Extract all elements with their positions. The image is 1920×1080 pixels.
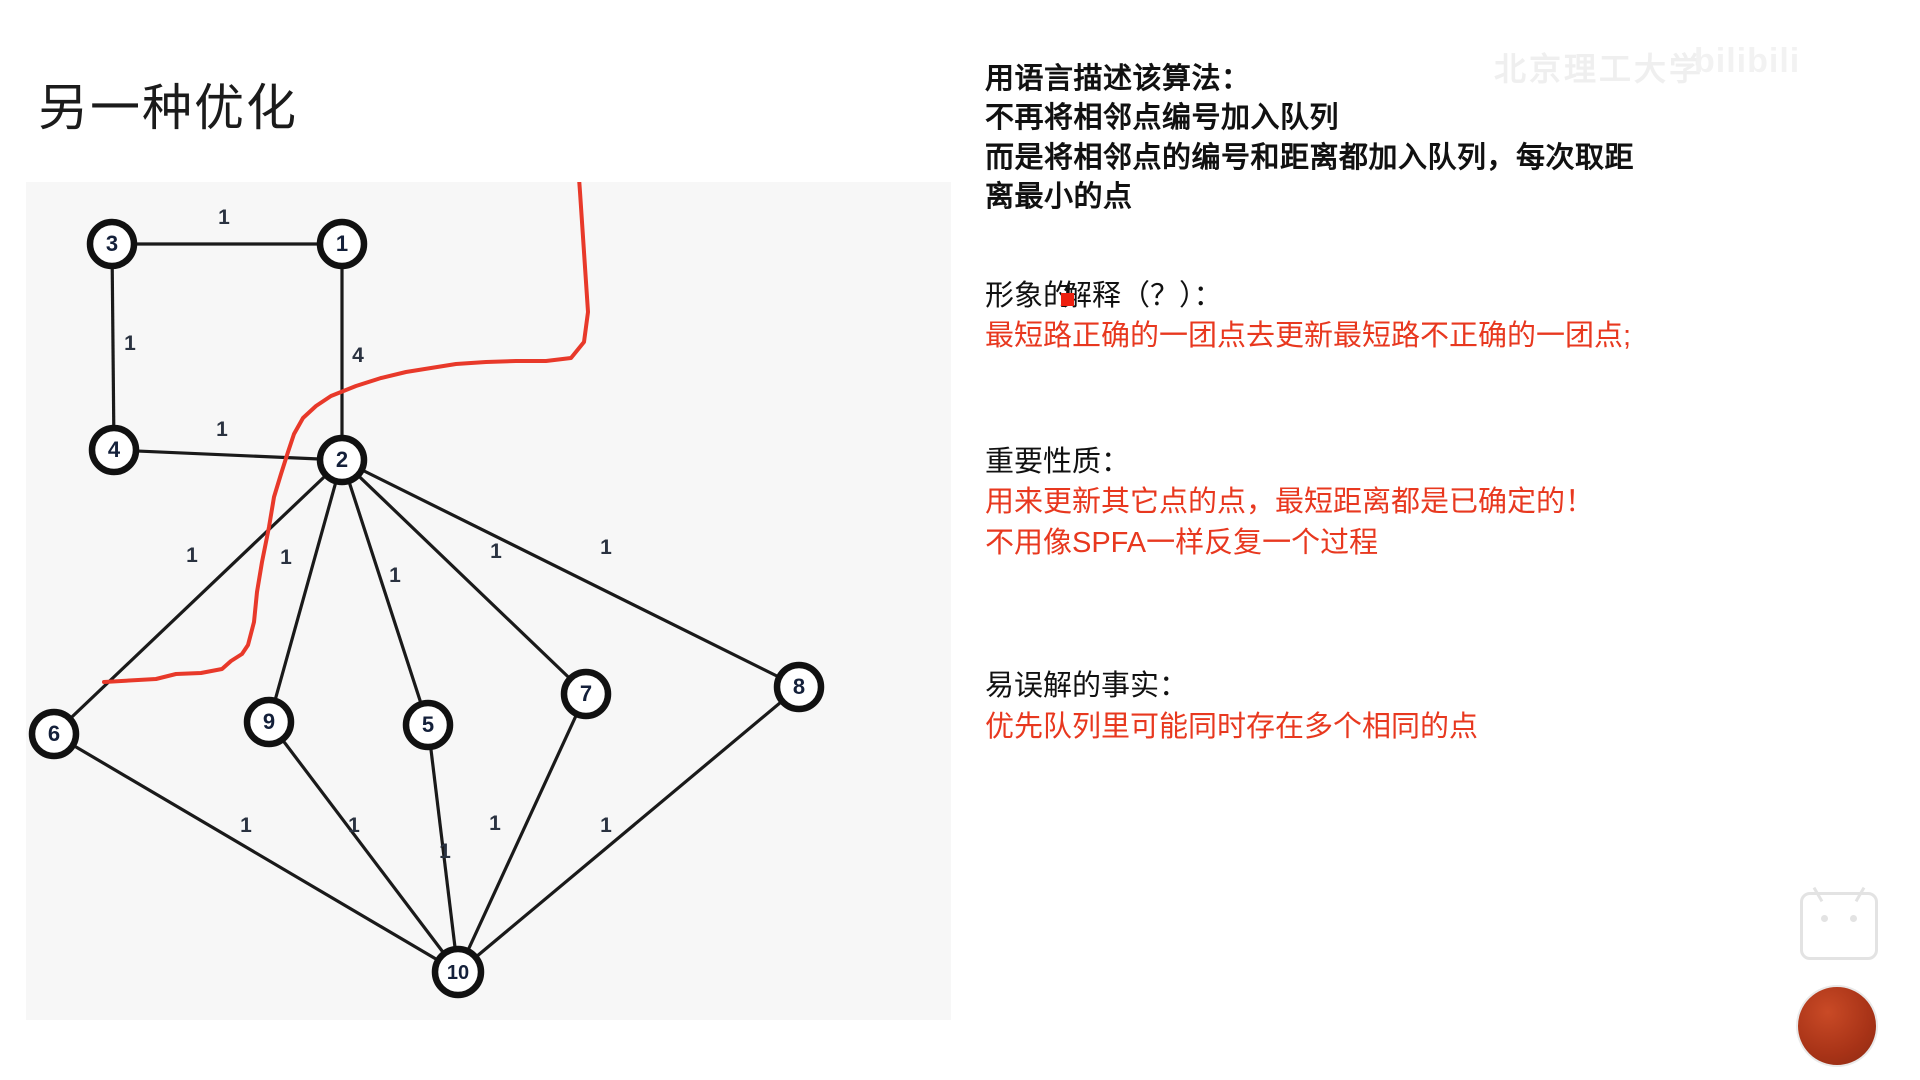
algo-line-3: 而是将相邻点的编号和距离都加入队列，每次取距: [985, 139, 1890, 178]
intuitive-heading-pre: 形象的: [985, 280, 1072, 312]
graph-edge: [269, 722, 458, 972]
intuitive-heading-post: 解释（？）：: [1063, 280, 1223, 312]
algo-line-2: 不再将相邻点编号加入队列: [985, 99, 1890, 138]
graph-edge: [269, 460, 342, 722]
spacer: [985, 622, 1890, 666]
block-intuitive-explanation: 形象的解释（？）： 最短路正确的一团点去更新最短路不正确的一团点;: [985, 276, 1890, 358]
edge-weight-label: 1: [490, 540, 502, 563]
edge-weight-label: 1: [240, 814, 252, 837]
spacer: [985, 416, 1890, 442]
graph-edge: [114, 450, 342, 460]
graph-node-label: 7: [580, 681, 592, 706]
graph-edge: [342, 460, 799, 687]
graph-node-label: 10: [447, 962, 469, 984]
intuitive-red-line-1: 最短路正确的一团点去更新最短路不正确的一团点;: [985, 316, 1890, 357]
graph-node-label: 1: [336, 231, 348, 256]
graph-node-label: 2: [336, 447, 348, 472]
tv-eye-left-icon: [1821, 915, 1828, 922]
edge-weight-label: 1: [186, 544, 198, 567]
channel-avatar[interactable]: [1796, 985, 1878, 1067]
block-common-misconception: 易误解的事实： 优先队列里可能同时存在多个相同的点: [985, 666, 1890, 748]
edge-weight-label: 1: [280, 546, 292, 569]
misconception-heading: 易误解的事实：: [985, 666, 1890, 707]
edge-weight-label: 1: [600, 536, 612, 559]
edge-weight-label: 1: [439, 840, 451, 863]
university-watermark: 北京理工大学: [1494, 44, 1704, 90]
slide-canvas: 另一种优化 11411111111111 31426957810 用语言描述该算…: [0, 0, 1920, 1080]
edge-weight-label: 1: [348, 814, 360, 837]
bilibili-tv-icon[interactable]: [1800, 892, 1878, 960]
edge-weight-label: 1: [489, 812, 501, 835]
graph-edge: [458, 694, 586, 972]
graph-node-label: 4: [108, 437, 121, 462]
bilibili-watermark: bilibili: [1694, 42, 1800, 81]
property-heading: 重要性质：: [985, 442, 1890, 483]
spacer: [985, 218, 1890, 276]
graph-node-label: 5: [422, 712, 434, 737]
graph-edge: [54, 734, 458, 972]
block-algorithm-description: 用语言描述该算法： 不再将相邻点编号加入队列 而是将相邻点的编号和距离都加入队列…: [985, 60, 1890, 218]
property-red-line-1: 用来更新其它点的点，最短距离都是已确定的！: [985, 482, 1890, 523]
edge-weight-label: 1: [600, 814, 612, 837]
red-cursor-dot: [1061, 293, 1074, 306]
tv-eye-right-icon: [1850, 915, 1857, 922]
block-important-property: 重要性质： 用来更新其它点的点，最短距离都是已确定的！ 不用像SPFA一样反复一…: [985, 442, 1890, 565]
graph-node-label: 3: [106, 231, 118, 256]
graph-panel: 11411111111111 31426957810: [26, 182, 951, 1020]
graph-node-label: 8: [793, 674, 805, 699]
intuitive-heading: 形象的解释（？）：: [985, 276, 1890, 317]
spacer: [985, 358, 1890, 416]
edge-weight-label: 1: [389, 564, 401, 587]
edge-weight-label: 1: [216, 418, 228, 441]
slide-text-column: 用语言描述该算法： 不再将相邻点编号加入队列 而是将相邻点的编号和距离都加入队列…: [985, 60, 1890, 748]
page-title: 另一种优化: [38, 68, 298, 140]
property-red-line-2: 不用像SPFA一样反复一个过程: [985, 523, 1890, 564]
graph-edge: [112, 244, 114, 450]
spacer: [985, 564, 1890, 622]
graph-edge: [458, 687, 799, 972]
edge-weight-label: 1: [124, 332, 136, 355]
misconception-red-line-1: 优先队列里可能同时存在多个相同的点: [985, 707, 1890, 748]
tv-antenna-right-icon: [1836, 876, 1866, 902]
edge-weight-label: 4: [352, 344, 364, 367]
graph-edge: [54, 460, 342, 734]
edge-weight-label: 1: [218, 206, 230, 229]
graph-diagram: 11411111111111 31426957810: [26, 182, 951, 1020]
algo-line-4: 离最小的点: [985, 178, 1890, 217]
graph-node-label: 6: [48, 721, 60, 746]
graph-node-label: 9: [263, 709, 275, 734]
